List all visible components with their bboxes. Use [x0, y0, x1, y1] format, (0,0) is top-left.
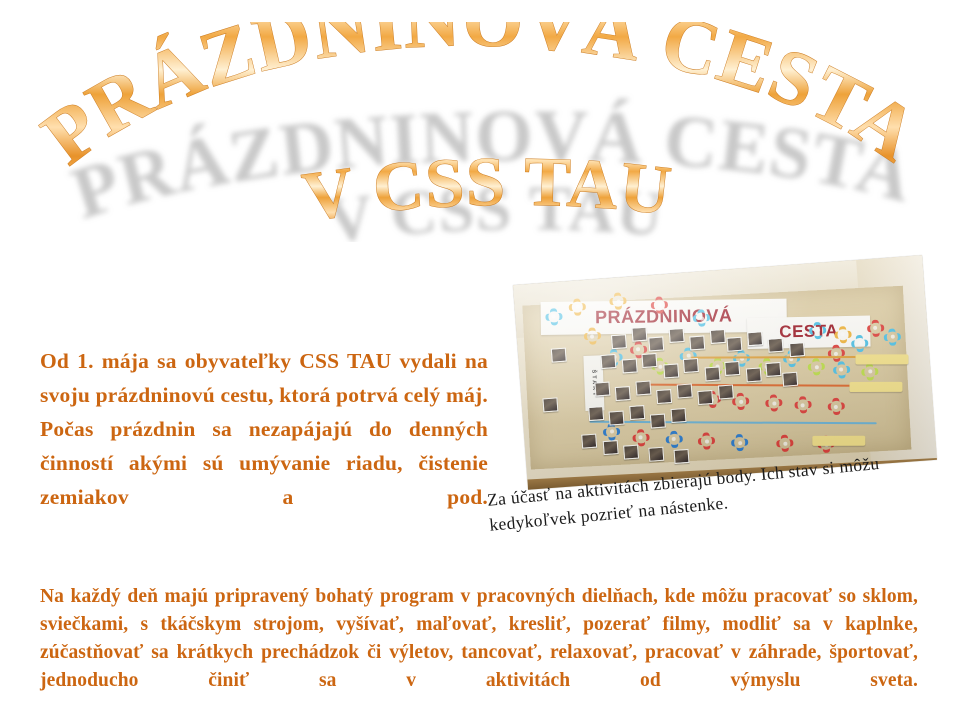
resident-portrait — [710, 329, 726, 344]
paper-flower-icon — [548, 311, 560, 323]
resident-portrait — [582, 433, 598, 448]
resident-portrait — [629, 405, 645, 420]
resident-portrait — [747, 331, 763, 346]
resident-portrait — [648, 447, 664, 462]
resident-portrait — [727, 336, 743, 351]
resident-portrait — [783, 371, 799, 386]
resident-portrait — [542, 397, 558, 412]
resident-portrait — [745, 368, 761, 383]
trail-end-note — [849, 382, 902, 392]
resident-portrait — [704, 367, 720, 382]
resident-portrait — [673, 449, 689, 464]
resident-portrait — [670, 408, 686, 423]
resident-portrait — [677, 383, 693, 398]
resident-portrait — [663, 364, 679, 379]
program-paragraph: Na každý deň majú pripravený bohatý prog… — [40, 583, 918, 723]
resident-portrait — [631, 327, 647, 342]
resident-portrait — [611, 335, 627, 350]
resident-portrait — [789, 342, 805, 357]
trail-end-note — [856, 355, 909, 365]
paper-flower-icon — [606, 426, 618, 438]
resident-portrait — [648, 336, 664, 351]
resident-portrait — [551, 347, 567, 362]
paper-flower-icon — [654, 299, 666, 311]
resident-portrait — [600, 354, 616, 369]
resident-portrait — [623, 445, 639, 460]
paper-flower-icon — [668, 433, 680, 445]
resident-portrait — [698, 390, 714, 405]
paper-flower-icon — [835, 364, 847, 376]
resident-portrait — [615, 386, 631, 401]
paper-flower-icon — [886, 331, 898, 343]
resident-portrait — [609, 411, 625, 426]
resident-portrait — [656, 389, 672, 404]
intro-paragraph: Od 1. mája sa obyvateľky CSS TAU vydali … — [40, 344, 488, 548]
paper-flower-icon — [864, 366, 876, 378]
resident-portrait — [588, 406, 604, 421]
trail-end-note — [812, 436, 865, 446]
resident-portrait — [724, 361, 740, 376]
resident-portrait — [650, 414, 666, 429]
resident-portrait — [594, 381, 610, 396]
resident-portrait — [621, 358, 637, 373]
resident-portrait — [635, 380, 651, 395]
resident-portrait — [718, 384, 734, 399]
paper-flower-icon — [869, 322, 881, 334]
paper-flower-icon — [635, 432, 647, 444]
resident-portrait — [765, 362, 781, 377]
resident-portrait — [689, 335, 705, 350]
resident-portrait — [641, 353, 657, 368]
resident-portrait — [683, 358, 699, 373]
paper-flower-icon — [837, 329, 849, 341]
resident-portrait — [768, 337, 784, 352]
page-title: PRÁZDNINOVÁ CESTA V CSS TAU PRÁZDNINOVÁ … — [0, 22, 960, 242]
bulletin-board-photo: PRÁZDNINOVÁ CESTA ŠTART — [512, 256, 942, 481]
photo-banner-cesta: CESTA — [747, 316, 871, 349]
resident-portrait — [603, 440, 619, 455]
resident-portrait — [668, 328, 684, 343]
paper-flower-icon — [812, 324, 824, 336]
wordart-title-svg: PRÁZDNINOVÁ CESTA V CSS TAU PRÁZDNINOVÁ … — [0, 22, 960, 242]
